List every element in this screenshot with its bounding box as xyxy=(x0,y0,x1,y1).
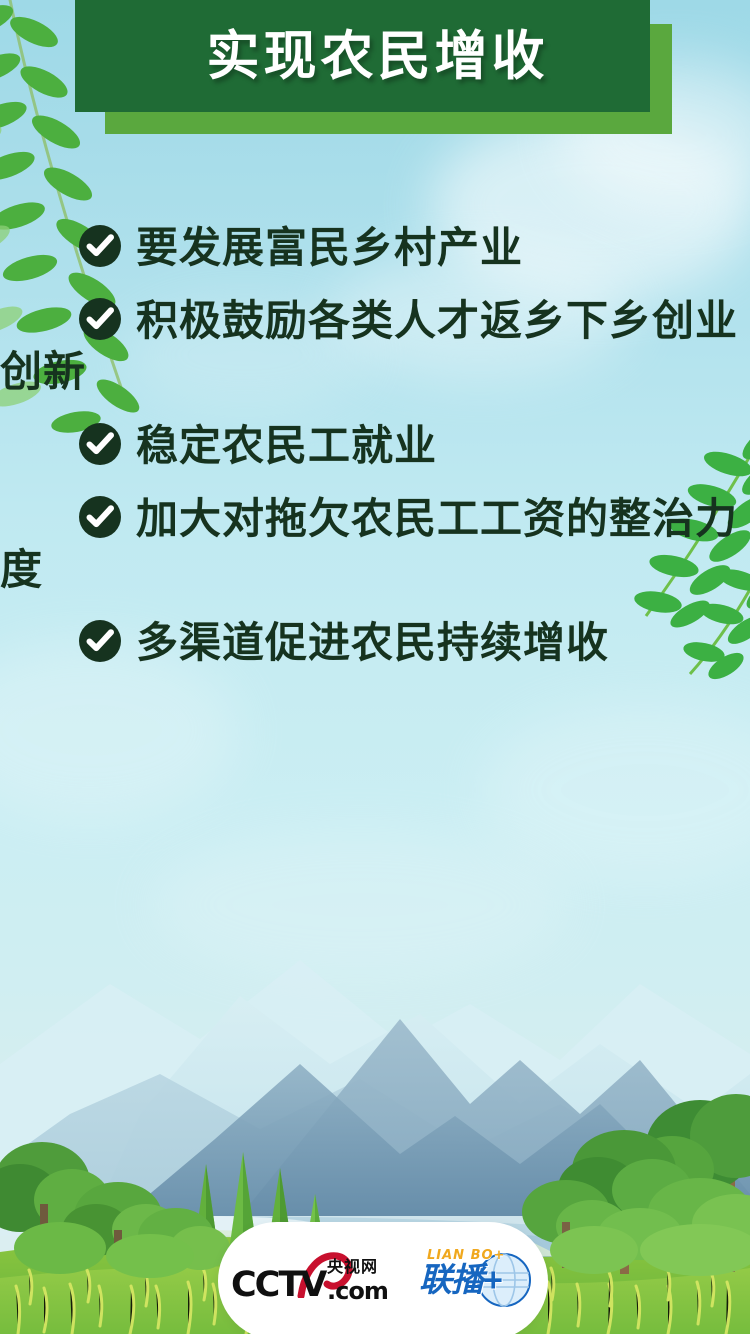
list-item: 多渠道促进农民持续增收 xyxy=(0,617,750,668)
cctv-chinese-label: 央视网 xyxy=(327,1260,378,1276)
cctv-domain-label: .com xyxy=(327,1279,388,1303)
list-item-label: 稳定农民工就业 xyxy=(136,422,437,469)
check-circle-icon xyxy=(78,619,122,663)
poster-root: 实现农民增收 要发展富民乡村产业 积极鼓励各类人才返乡下乡创业创新 稳定农民工就… xyxy=(0,0,750,1334)
check-circle-icon xyxy=(78,297,122,341)
check-circle-icon xyxy=(78,495,122,539)
check-circle-icon xyxy=(78,422,122,466)
lianbo-chinese-label: 联播+ xyxy=(419,1263,501,1296)
list-item-label: 要发展富民乡村产业 xyxy=(136,224,523,271)
page-title: 实现农民增收 xyxy=(177,30,549,83)
checklist: 要发展富民乡村产业 积极鼓励各类人才返乡下乡创业创新 稳定农民工就业 加大对拖欠… xyxy=(0,222,750,691)
check-circle-icon xyxy=(78,224,122,268)
list-item: 稳定农民工就业 xyxy=(0,420,750,471)
title-banner: 实现农民增收 xyxy=(75,0,650,112)
footer-logo-pill: CCTV 央视网 .com LIAN BO+ 联播+ xyxy=(218,1222,548,1334)
cctv-wordmark: CCTV xyxy=(231,1268,325,1303)
list-item: 要发展富民乡村产业 xyxy=(0,222,750,273)
list-item-label: 多渠道促进农民持续增收 xyxy=(136,619,609,666)
cctv-logo[interactable]: CCTV 央视网 .com xyxy=(231,1252,391,1310)
list-item: 积极鼓励各类人才返乡下乡创业创新 xyxy=(0,295,750,397)
lianbo-logo[interactable]: LIAN BO+ 联播+ xyxy=(417,1247,535,1315)
list-item: 加大对拖欠农民工工资的整治力度 xyxy=(0,493,750,595)
